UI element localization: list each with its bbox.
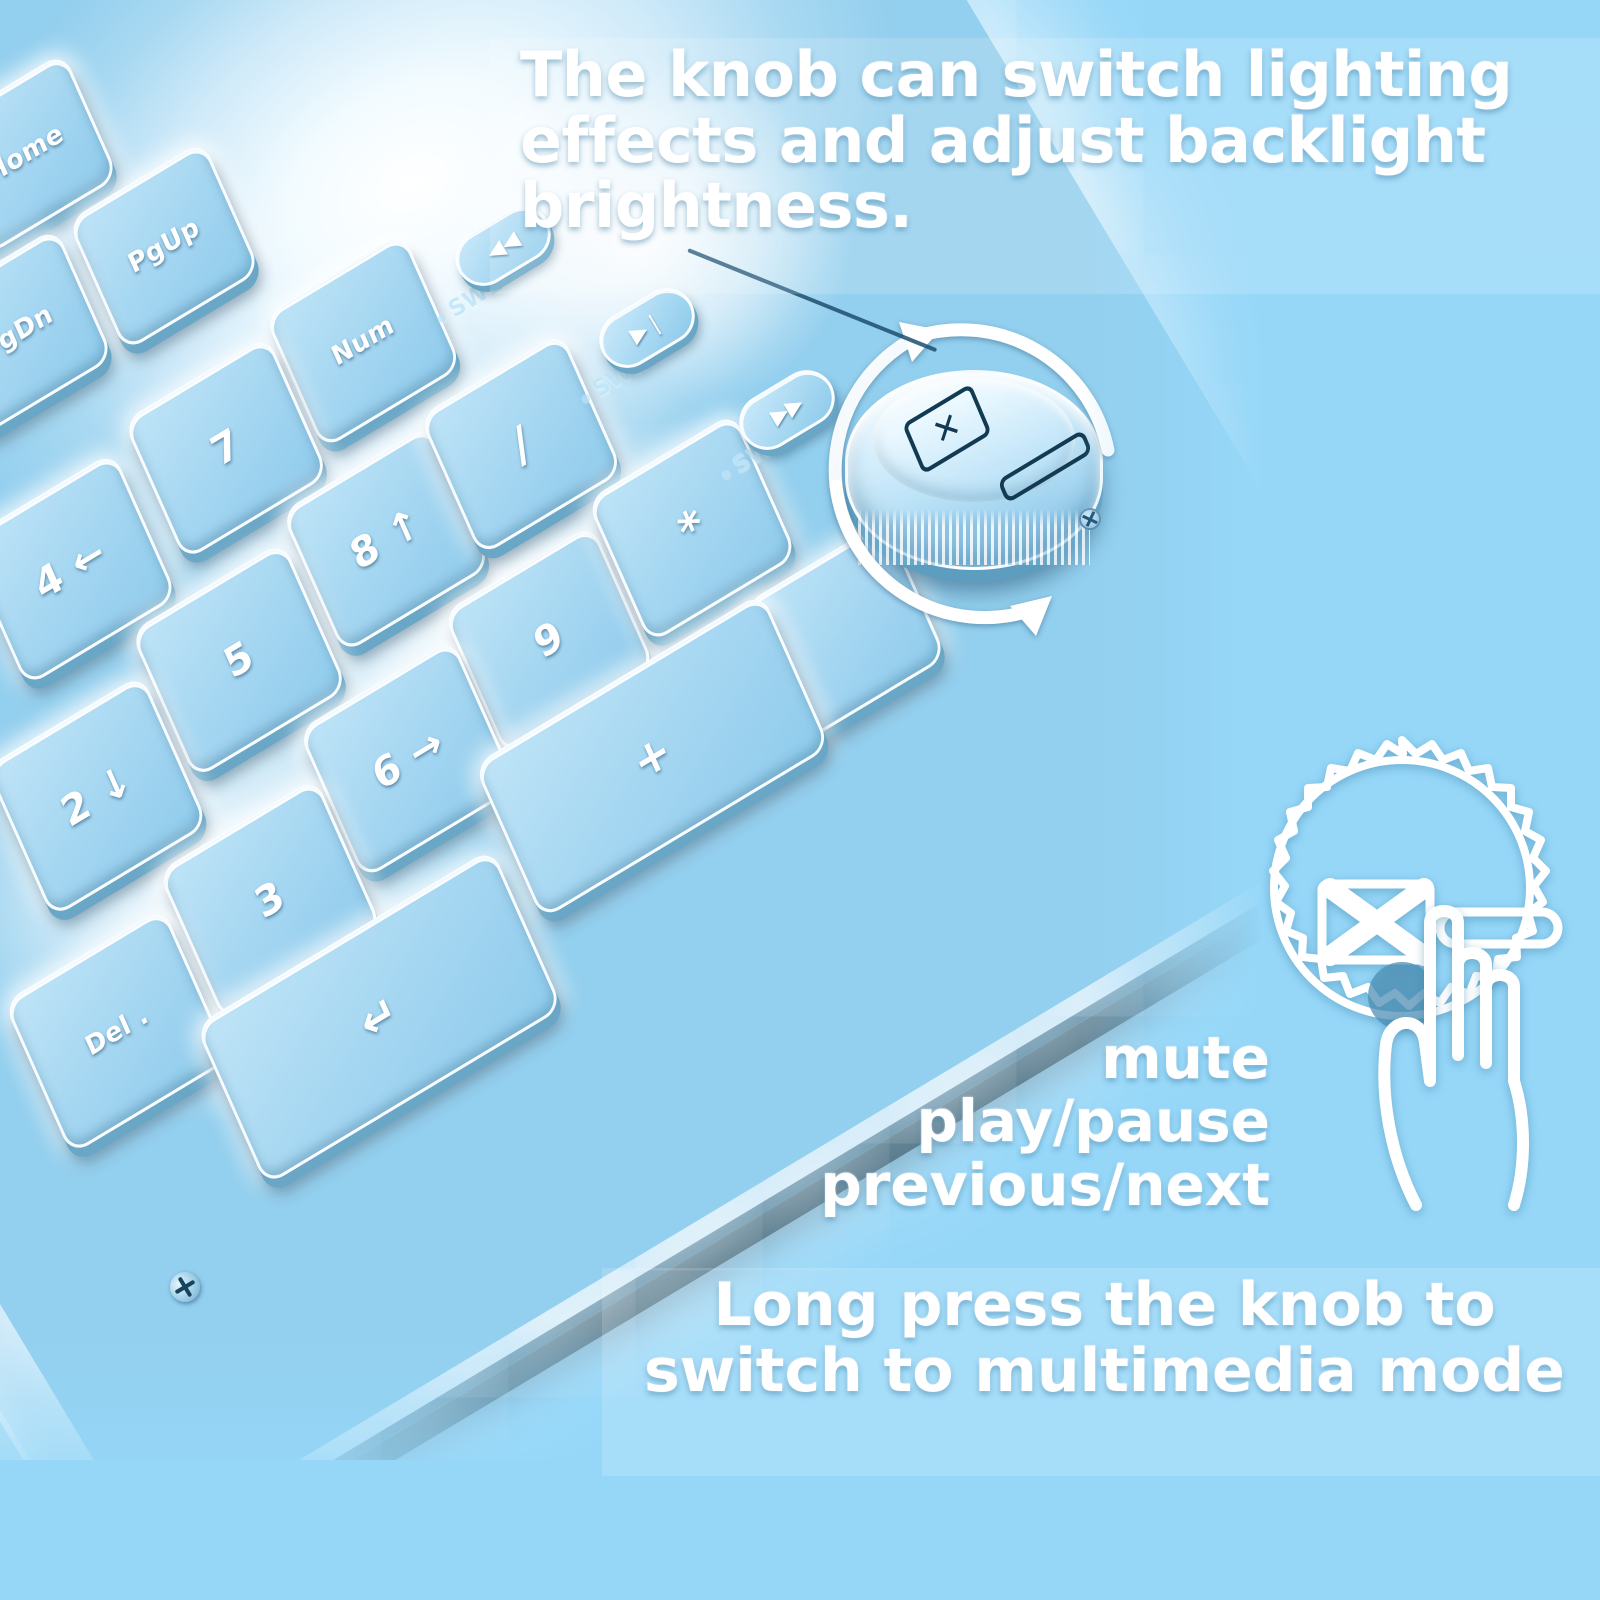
previous-track-icon: ◀◀ xyxy=(482,227,524,266)
keycap-label: / xyxy=(503,415,540,474)
knob-knurling xyxy=(858,509,1090,565)
keycap-label: 5 xyxy=(217,632,260,689)
keycap-label: 4 ← xyxy=(28,528,113,610)
keycap-label: 6 → xyxy=(366,718,451,800)
headline-text: The knob can switch lighting effects and… xyxy=(520,42,1590,239)
media-function-mute: mute xyxy=(820,1028,1270,1089)
keycap-label: 7 xyxy=(204,420,247,477)
rotary-knob[interactable]: ✕ xyxy=(845,370,1103,570)
keycap-label: 8 ↑ xyxy=(344,498,429,580)
keycap-label: ↵ xyxy=(351,982,407,1052)
keycap-label: 9 xyxy=(527,612,570,669)
long-press-text: Long press the knob to switch to multime… xyxy=(612,1272,1597,1404)
media-function-previous-next: previous/next xyxy=(820,1155,1270,1216)
media-function-list: mute play/pause previous/next xyxy=(820,1028,1270,1218)
keycap-label: PgUp xyxy=(124,212,204,281)
keycap-label: + xyxy=(624,721,680,791)
keycap-label: Del . xyxy=(81,999,153,1062)
keycap-label: * xyxy=(670,497,713,559)
media-function-play-pause: play/pause xyxy=(820,1091,1270,1152)
keycap-label: PgDn xyxy=(0,299,57,368)
next-track-icon: ▶▶ xyxy=(766,391,808,430)
knob-mount-screw xyxy=(1079,508,1101,530)
keycap-label: Home xyxy=(0,118,68,190)
pointing-hand-icon xyxy=(1330,905,1570,1235)
keycap-label: 3 xyxy=(248,872,291,929)
product-image-canvas: Home PgUp PgDn Num 7 8 ↑ 9 4 ← 5 6 → xyxy=(0,0,1600,1600)
keycap-label: Num xyxy=(327,309,398,372)
play-pause-icon: ▶❘ xyxy=(625,308,668,348)
keycap-label: 2 ↓ xyxy=(55,755,140,837)
